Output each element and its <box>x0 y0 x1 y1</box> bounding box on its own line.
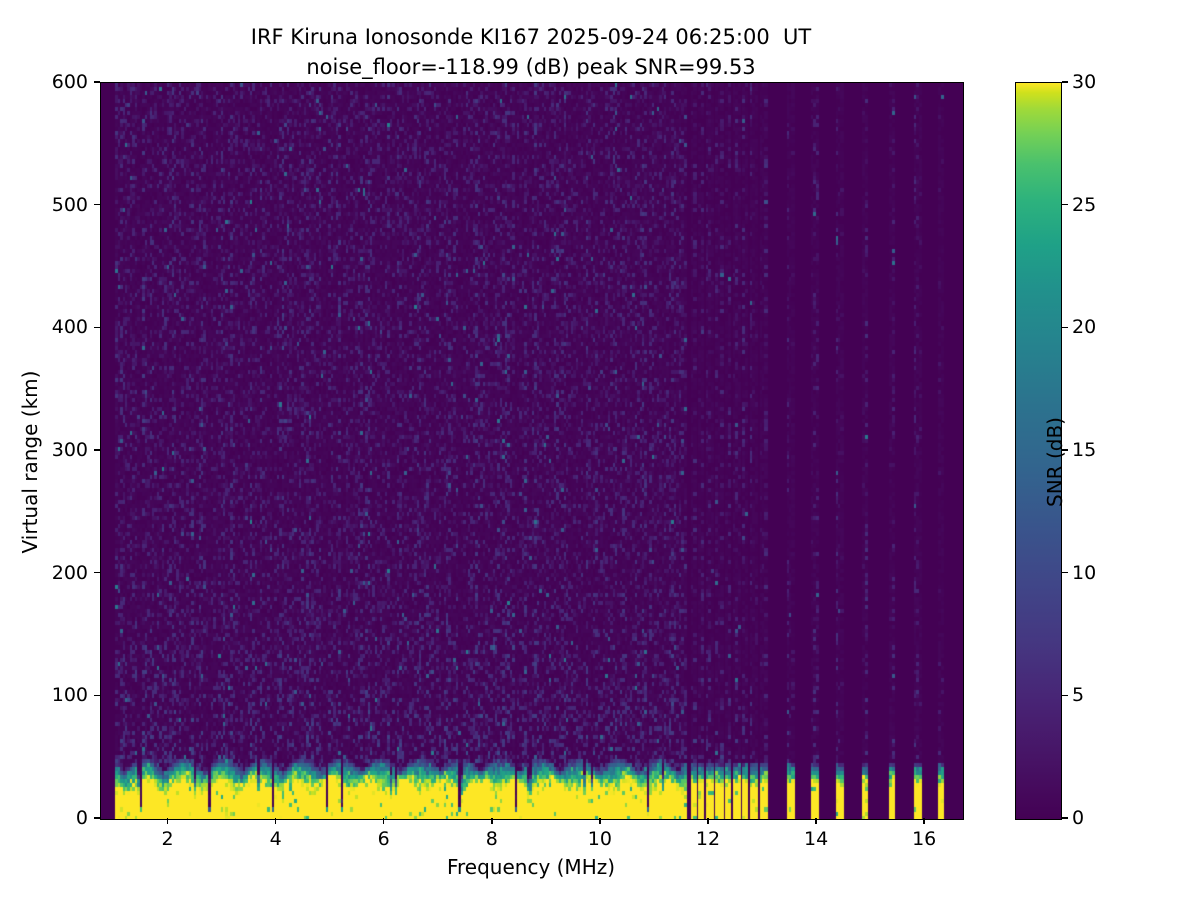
x-tick-16 <box>923 818 925 824</box>
x-tick-label-16: 16 <box>912 828 936 850</box>
colorbar-tick-25 <box>1062 204 1068 206</box>
x-tick-label-2: 2 <box>162 828 174 850</box>
colorbar-tick-5 <box>1062 695 1068 697</box>
plot-axes <box>100 82 964 820</box>
y-tick-label-500: 500 <box>52 194 88 216</box>
ionogram-heatmap <box>101 83 963 819</box>
colorbar-tick-label-30: 30 <box>1072 71 1096 93</box>
title-line-2: noise_floor=-118.99 (dB) peak SNR=99.53 <box>306 55 755 79</box>
colorbar-tick-label-0: 0 <box>1072 807 1084 829</box>
y-tick-label-200: 200 <box>52 562 88 584</box>
y-tick-label-100: 100 <box>52 684 88 706</box>
colorbar-label: SNR (dB) <box>1043 322 1067 602</box>
y-tick-500 <box>94 204 100 206</box>
y-tick-0 <box>94 817 100 819</box>
y-tick-label-400: 400 <box>52 316 88 338</box>
x-tick-label-14: 14 <box>804 828 828 850</box>
y-tick-300 <box>94 449 100 451</box>
colorbar-tick-label-20: 20 <box>1072 316 1096 338</box>
x-tick-12 <box>707 818 709 824</box>
y-tick-400 <box>94 327 100 329</box>
x-tick-label-12: 12 <box>696 828 720 850</box>
ionogram-figure: IRF Kiruna Ionosonde KI167 2025-09-24 06… <box>0 0 1200 900</box>
y-tick-200 <box>94 572 100 574</box>
colorbar-tick-30 <box>1062 81 1068 83</box>
figure-title: IRF Kiruna Ionosonde KI167 2025-09-24 06… <box>0 22 1062 82</box>
y-tick-100 <box>94 695 100 697</box>
x-tick-6 <box>383 818 385 824</box>
x-tick-4 <box>275 818 277 824</box>
title-line-1: IRF Kiruna Ionosonde KI167 2025-09-24 06… <box>251 25 811 49</box>
x-tick-10 <box>599 818 601 824</box>
colorbar-tick-label-5: 5 <box>1072 684 1084 706</box>
y-tick-label-600: 600 <box>52 71 88 93</box>
x-tick-14 <box>815 818 817 824</box>
x-axis-label: Frequency (MHz) <box>100 855 962 879</box>
y-axis-label: Virtual range (km) <box>18 252 42 672</box>
colorbar-tick-label-10: 10 <box>1072 562 1096 584</box>
colorbar-tick-0 <box>1062 817 1068 819</box>
y-tick-600 <box>94 81 100 83</box>
x-tick-label-4: 4 <box>270 828 282 850</box>
x-tick-label-6: 6 <box>378 828 390 850</box>
x-tick-label-10: 10 <box>588 828 612 850</box>
x-tick-8 <box>491 818 493 824</box>
y-tick-label-300: 300 <box>52 439 88 461</box>
x-tick-2 <box>167 818 169 824</box>
x-tick-label-8: 8 <box>486 828 498 850</box>
colorbar-tick-label-25: 25 <box>1072 194 1096 216</box>
colorbar-tick-label-15: 15 <box>1072 439 1096 461</box>
y-tick-label-0: 0 <box>76 807 88 829</box>
